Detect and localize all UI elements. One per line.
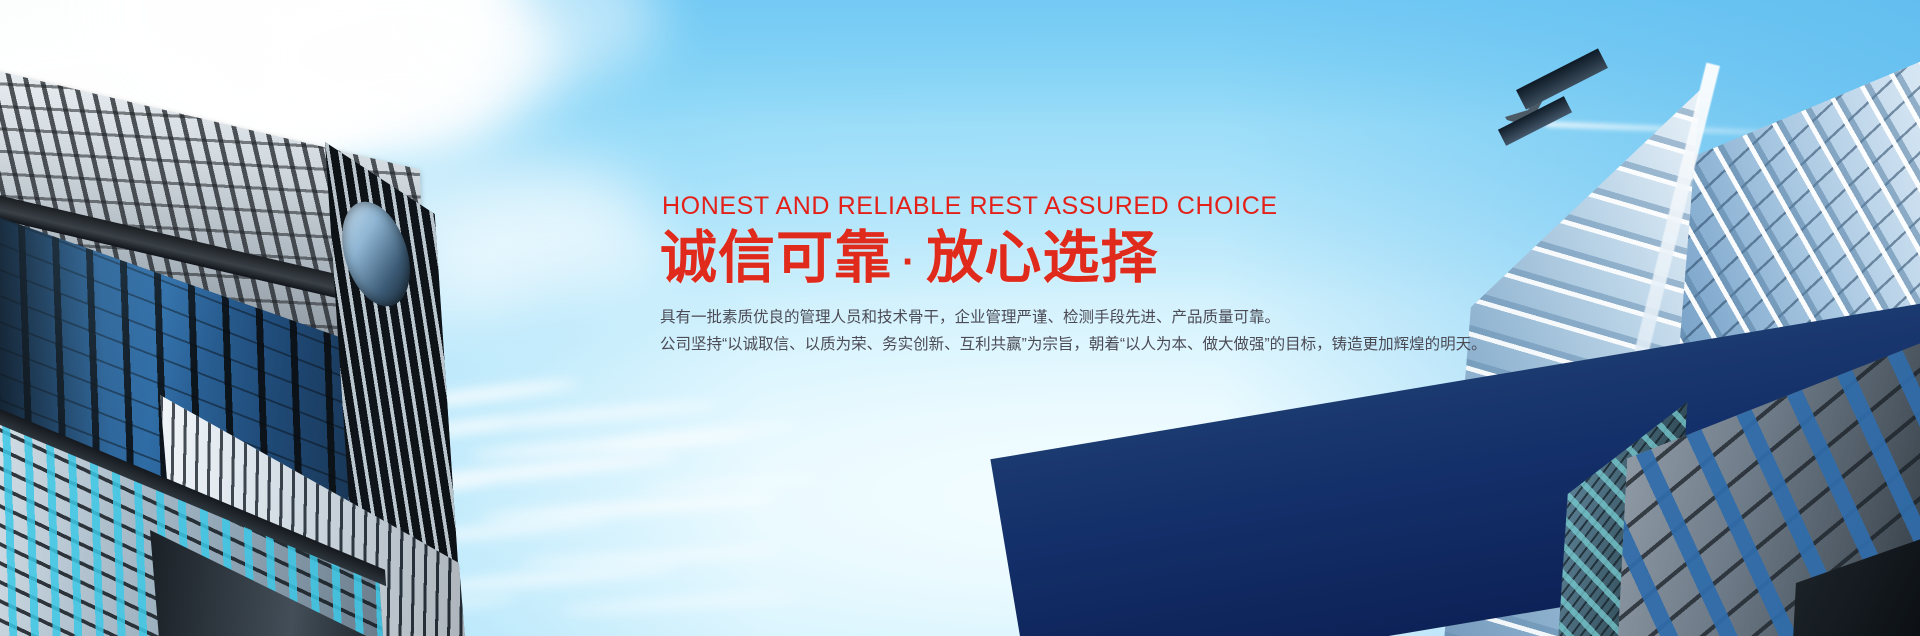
banner-paragraph-line-2: 公司坚持“以诚取信、以质为荣、务实创新、互利共赢”为宗旨，朝着“以人为本、做大做… [660, 331, 1380, 358]
banner-headline: 诚信可靠·放心选择 [660, 227, 1380, 290]
banner-paragraph-line-1: 具有一批素质优良的管理人员和技术骨干，企业管理严谨、检测手段先进、产品质量可靠。 [660, 304, 1380, 331]
bottom-right-tower [1360, 376, 1920, 636]
headline-part-left: 诚信可靠 [660, 226, 892, 290]
banner-copy: HONEST AND RELIABLE REST ASSURED CHOICE … [660, 194, 1380, 358]
headline-separator-dot: · [892, 240, 926, 284]
banner-eyebrow: HONEST AND RELIABLE REST ASSURED CHOICE [662, 194, 1380, 219]
hero-banner: HONEST AND RELIABLE REST ASSURED CHOICE … [0, 0, 1920, 636]
left-secondary-building [0, 380, 410, 636]
headline-part-right: 放心选择 [926, 226, 1158, 290]
